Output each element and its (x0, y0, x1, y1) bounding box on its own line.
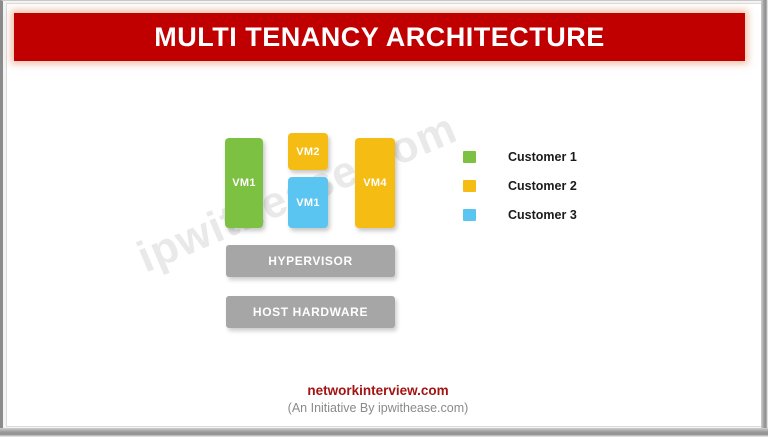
legend-label: Customer 1 (508, 150, 577, 164)
slide-canvas: MULTI TENANCY ARCHITECTURE ipwithease.co… (0, 0, 768, 437)
vm-box: VM2 (288, 133, 328, 170)
host-hardware-box: HOST HARDWARE (226, 296, 395, 328)
vm-box: VM1 (225, 138, 263, 228)
hypervisor-label: HYPERVISOR (268, 254, 352, 268)
vm-box: VM1 (288, 177, 328, 228)
title-banner: MULTI TENANCY ARCHITECTURE (14, 13, 745, 61)
vm-label: VM1 (296, 197, 320, 209)
legend-item-customer-3: Customer 3 (463, 200, 577, 229)
legend-label: Customer 2 (508, 179, 577, 193)
vm-label: VM2 (296, 146, 320, 158)
footer: networkinterview.com (An Initiative By i… (0, 383, 756, 417)
vm-label: VM4 (363, 177, 387, 189)
page-title: MULTI TENANCY ARCHITECTURE (154, 22, 604, 53)
legend: Customer 1 Customer 2 Customer 3 (463, 142, 577, 229)
frame-shadow-bottom (0, 428, 768, 437)
hypervisor-box: HYPERVISOR (226, 245, 395, 277)
vm-label: VM1 (232, 177, 256, 189)
legend-label: Customer 3 (508, 208, 577, 222)
vm-box: VM4 (355, 138, 395, 228)
legend-item-customer-2: Customer 2 (463, 171, 577, 200)
host-hardware-label: HOST HARDWARE (253, 305, 368, 319)
legend-item-customer-1: Customer 1 (463, 142, 577, 171)
legend-swatch-icon (463, 209, 476, 221)
legend-swatch-icon (463, 180, 476, 192)
footer-brand: networkinterview.com (0, 383, 756, 399)
legend-swatch-icon (463, 151, 476, 163)
footer-subtitle: (An Initiative By ipwithease.com) (0, 399, 756, 417)
frame-shadow-right (761, 0, 768, 432)
